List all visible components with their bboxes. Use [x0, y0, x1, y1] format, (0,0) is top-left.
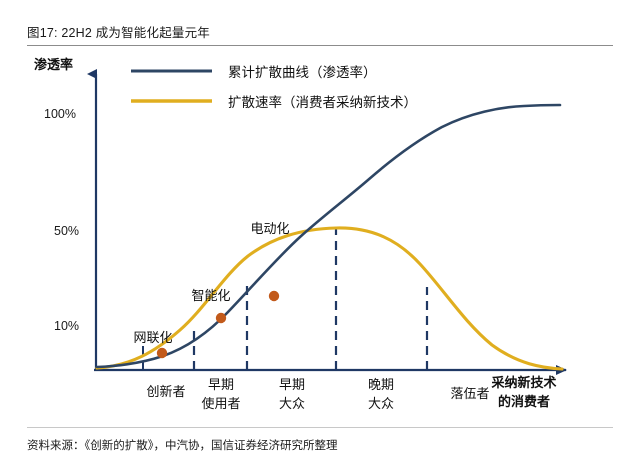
axis-group: [94, 74, 566, 370]
series-line-diffusion-rate: [97, 228, 562, 369]
x-category-labels: 创新者 早期 使用者 早期 大众 晚期 大众 落伍者: [146, 377, 489, 411]
annotation-wanglianhua: 网联化: [133, 330, 172, 345]
marker-wanglianhua: [157, 348, 167, 358]
footer-divider: [27, 427, 613, 428]
y-tick-100: 100%: [44, 107, 76, 121]
category-label-early-adopters-line1: 早期: [208, 377, 234, 392]
category-label-late-majority-line1: 晚期: [368, 377, 394, 392]
category-label-late-majority-line2: 大众: [368, 396, 394, 411]
chart-canvas: 渗透率 采纳新技术 的消费者 100% 50% 10%: [0, 0, 640, 472]
y-tick-50: 50%: [54, 224, 79, 238]
category-label-early-adopters-line2: 使用者: [201, 396, 240, 411]
figure-container: 图17: 22H2 成为智能化起量元年 渗透率 采纳新技术 的消费者 100% …: [0, 0, 640, 472]
legend-label-cumulative: 累计扩散曲线（渗透率）: [228, 64, 377, 80]
series-line-cumulative-penetration: [97, 105, 560, 367]
y-tick-10: 10%: [54, 319, 79, 333]
x-axis-title-line2: 的消费者: [498, 394, 550, 409]
legend: 累计扩散曲线（渗透率） 扩散速率（消费者采纳新技术）: [131, 64, 417, 110]
category-label-early-majority-line2: 大众: [279, 396, 305, 411]
legend-label-rate: 扩散速率（消费者采纳新技术）: [228, 94, 417, 110]
category-label-laggards: 落伍者: [450, 386, 489, 401]
category-label-innovators: 创新者: [146, 384, 185, 399]
x-axis-title-line1: 采纳新技术: [490, 375, 556, 390]
marker-diandonghua: [269, 291, 279, 301]
y-axis-title: 渗透率: [34, 57, 73, 72]
annotation-diandonghua: 电动化: [250, 221, 289, 236]
marker-zhinenghua: [216, 313, 226, 323]
x-axis-ticks: [194, 361, 427, 370]
annotation-zhinenghua: 智能化: [191, 288, 230, 303]
category-dashed-lines: [143, 228, 427, 370]
category-label-early-majority-line1: 早期: [279, 377, 305, 392]
y-tick-labels: 100% 50% 10%: [44, 107, 79, 333]
figure-source: 资料来源：《创新的扩散》，中汽协，国信证券经济研究所整理: [27, 437, 338, 453]
